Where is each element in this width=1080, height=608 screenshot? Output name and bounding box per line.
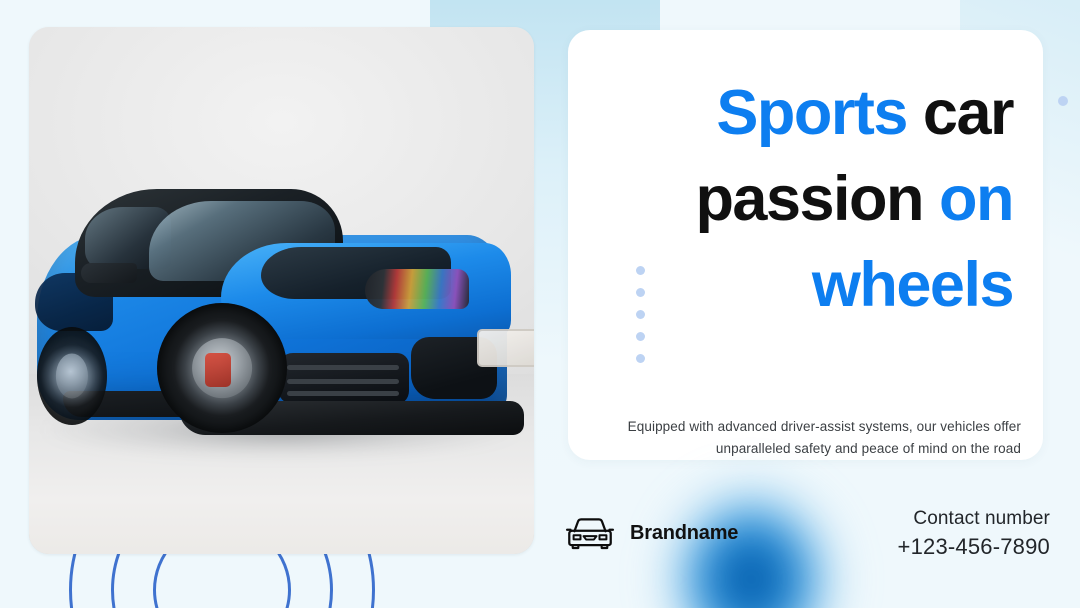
car-rear-wheel xyxy=(37,327,107,425)
brand-name-label: Brandname xyxy=(630,522,738,545)
grille-slat xyxy=(287,379,399,384)
headline-plain-car: car xyxy=(923,78,1013,148)
brand-lockup[interactable]: Brandname xyxy=(562,514,738,552)
page-title: Sports car passion on wheels xyxy=(598,70,1013,328)
poster-canvas: Sports car passion on wheels Equipped wi… xyxy=(0,0,1080,608)
headline-card: Sports car passion on wheels Equipped wi… xyxy=(568,30,1043,460)
decor-dot xyxy=(636,354,645,363)
contact-block: Contact number +123-456-7890 xyxy=(898,505,1050,562)
headline-accent-wheels: wheels xyxy=(812,250,1013,320)
headline-line-2: passion on xyxy=(598,156,1013,242)
decor-dot xyxy=(636,310,645,319)
decor-dot xyxy=(636,266,645,275)
sports-car-illustration xyxy=(29,177,534,507)
car-front-icon xyxy=(562,514,618,552)
body-paragraph: Equipped with advanced driver-assist sys… xyxy=(624,416,1021,460)
headline-line-1: Sports car xyxy=(598,70,1013,156)
car-headlight xyxy=(365,269,469,309)
hero-image-panel xyxy=(29,27,534,554)
car-grille xyxy=(277,353,409,405)
contact-label: Contact number xyxy=(898,505,1050,532)
headline-accent-on: on xyxy=(939,164,1013,234)
car-side-mirror xyxy=(81,263,137,283)
contact-number[interactable]: +123-456-7890 xyxy=(898,532,1050,562)
car-license-plate xyxy=(477,329,534,367)
grille-slat xyxy=(287,365,399,370)
dot-column-decoration xyxy=(636,266,645,363)
decor-dot xyxy=(636,288,645,297)
studio-backdrop xyxy=(29,27,534,554)
car-brake-caliper xyxy=(205,353,231,387)
headline-line-3: wheels xyxy=(598,242,1013,328)
decor-dot xyxy=(636,332,645,341)
decor-dot-right-edge xyxy=(1058,96,1068,106)
headline-plain-passion: passion xyxy=(695,164,939,234)
grille-slat xyxy=(287,391,399,396)
headline-accent-sports: Sports xyxy=(716,78,923,148)
